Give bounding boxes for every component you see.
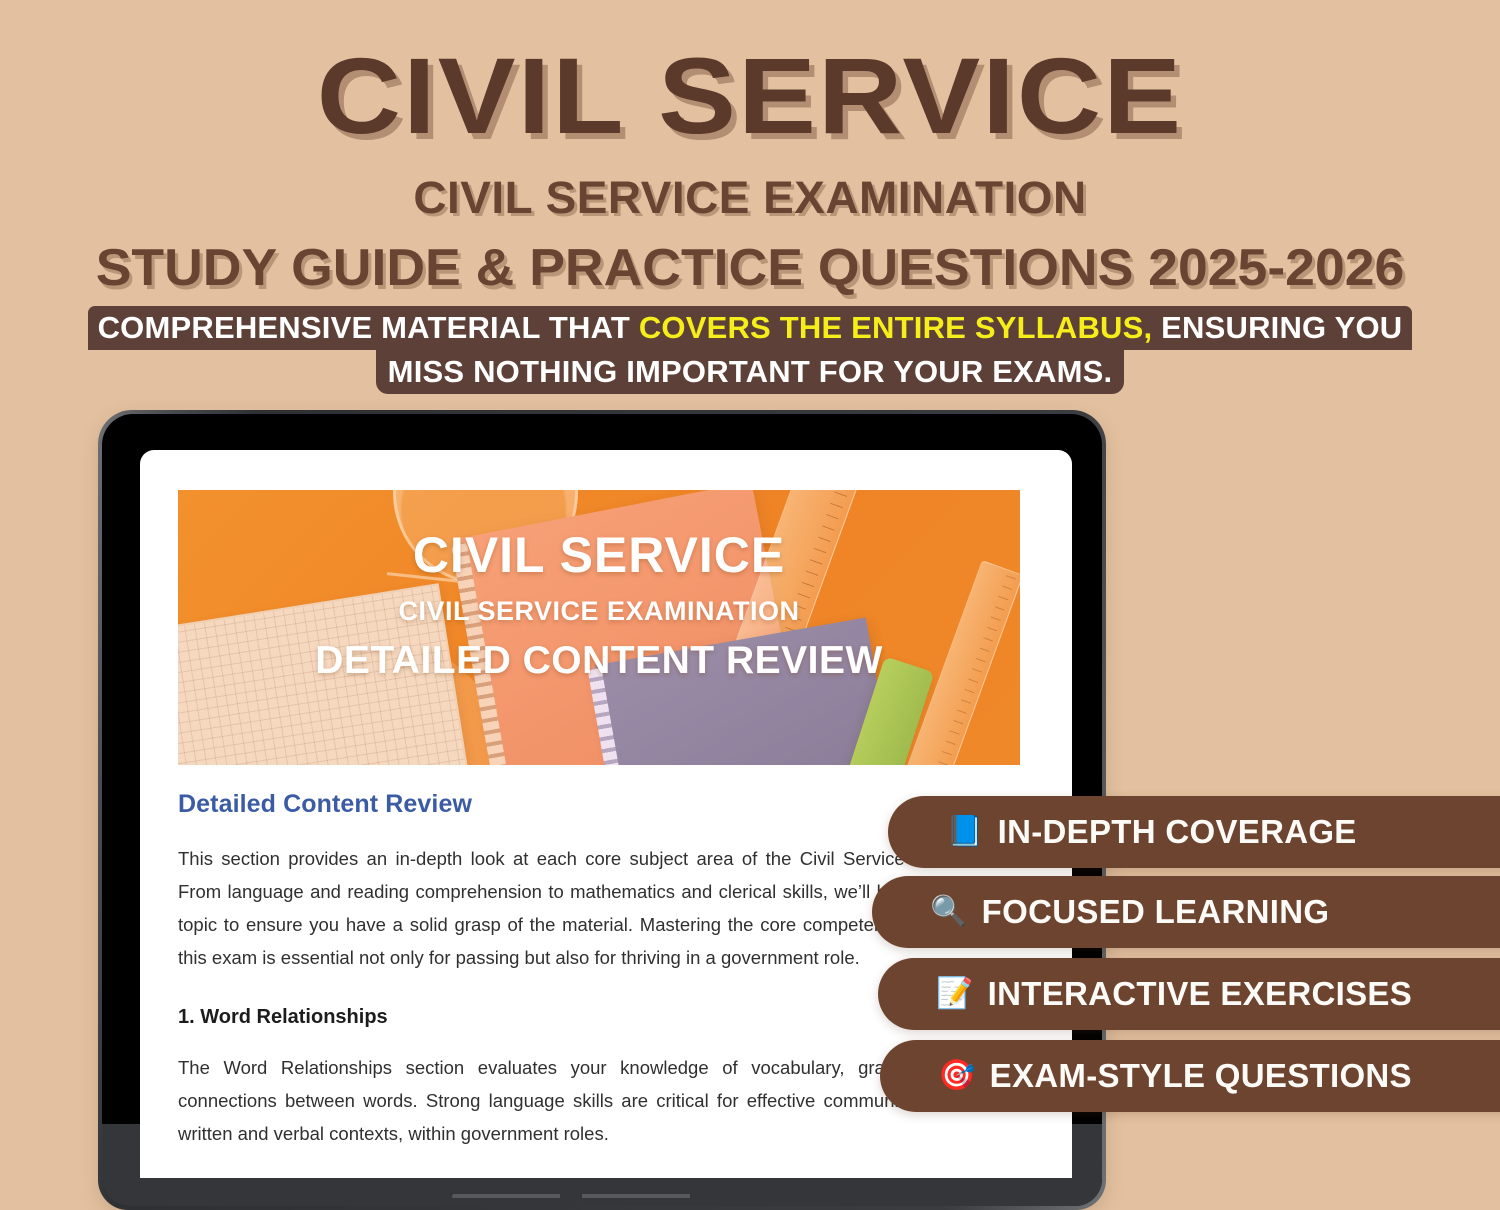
cover-section: DETAILED CONTENT REVIEW — [178, 639, 1020, 683]
feature-pill-focused-learning[interactable]: 🔍 FOCUSED LEARNING — [872, 876, 1500, 948]
magnifier-icon: 🔍 — [930, 897, 968, 927]
document-cover-image: CIVIL SERVICE CIVIL SERVICE EXAMINATION … — [178, 490, 1020, 765]
feature-label: FOCUSED LEARNING — [982, 893, 1330, 931]
tagline-highlight: COVERS THE ENTIRE SYLLABUS, — [639, 310, 1153, 345]
page-subtitle-guide: STUDY GUIDE & PRACTICE QUESTIONS 2025-20… — [0, 238, 1500, 298]
cover-subtitle: CIVIL SERVICE EXAMINATION — [178, 596, 1020, 627]
feature-pill-interactive-exercises[interactable]: 📝 INTERACTIVE EXERCISES — [878, 958, 1500, 1030]
memo-pencil-icon: 📝 — [936, 979, 974, 1009]
tagline-line-1: COMPREHENSIVE MATERIAL THAT COVERS THE E… — [88, 306, 1413, 350]
book-icon: 📘 — [946, 817, 984, 847]
page-header: CIVIL SERVICE CIVIL SERVICE EXAMINATION … — [0, 0, 1500, 298]
feature-pill-in-depth-coverage[interactable]: 📘 IN-DEPTH COVERAGE — [888, 796, 1500, 868]
cover-title: CIVIL SERVICE — [178, 528, 1020, 582]
speaker-grille — [452, 1194, 752, 1199]
cover-text-block: CIVIL SERVICE CIVIL SERVICE EXAMINATION … — [178, 528, 1020, 683]
feature-label: INTERACTIVE EXERCISES — [988, 975, 1412, 1013]
tagline-line-2: MISS NOTHING IMPORTANT FOR YOUR EXAMS. — [376, 350, 1125, 394]
page-subtitle-exam: CIVIL SERVICE EXAMINATION — [0, 172, 1500, 224]
feature-pill-exam-style-questions[interactable]: 🎯 EXAM-STYLE QUESTIONS — [880, 1040, 1500, 1112]
feature-label: EXAM-STYLE QUESTIONS — [990, 1057, 1412, 1095]
target-icon: 🎯 — [938, 1061, 976, 1091]
tagline-text-after: ENSURING YOU — [1152, 310, 1402, 345]
tagline-banner: COMPREHENSIVE MATERIAL THAT COVERS THE E… — [0, 306, 1500, 394]
page-title: CIVIL SERVICE — [0, 42, 1500, 150]
tagline-text-before: COMPREHENSIVE MATERIAL THAT — [98, 310, 639, 345]
feature-label: IN-DEPTH COVERAGE — [998, 813, 1357, 851]
